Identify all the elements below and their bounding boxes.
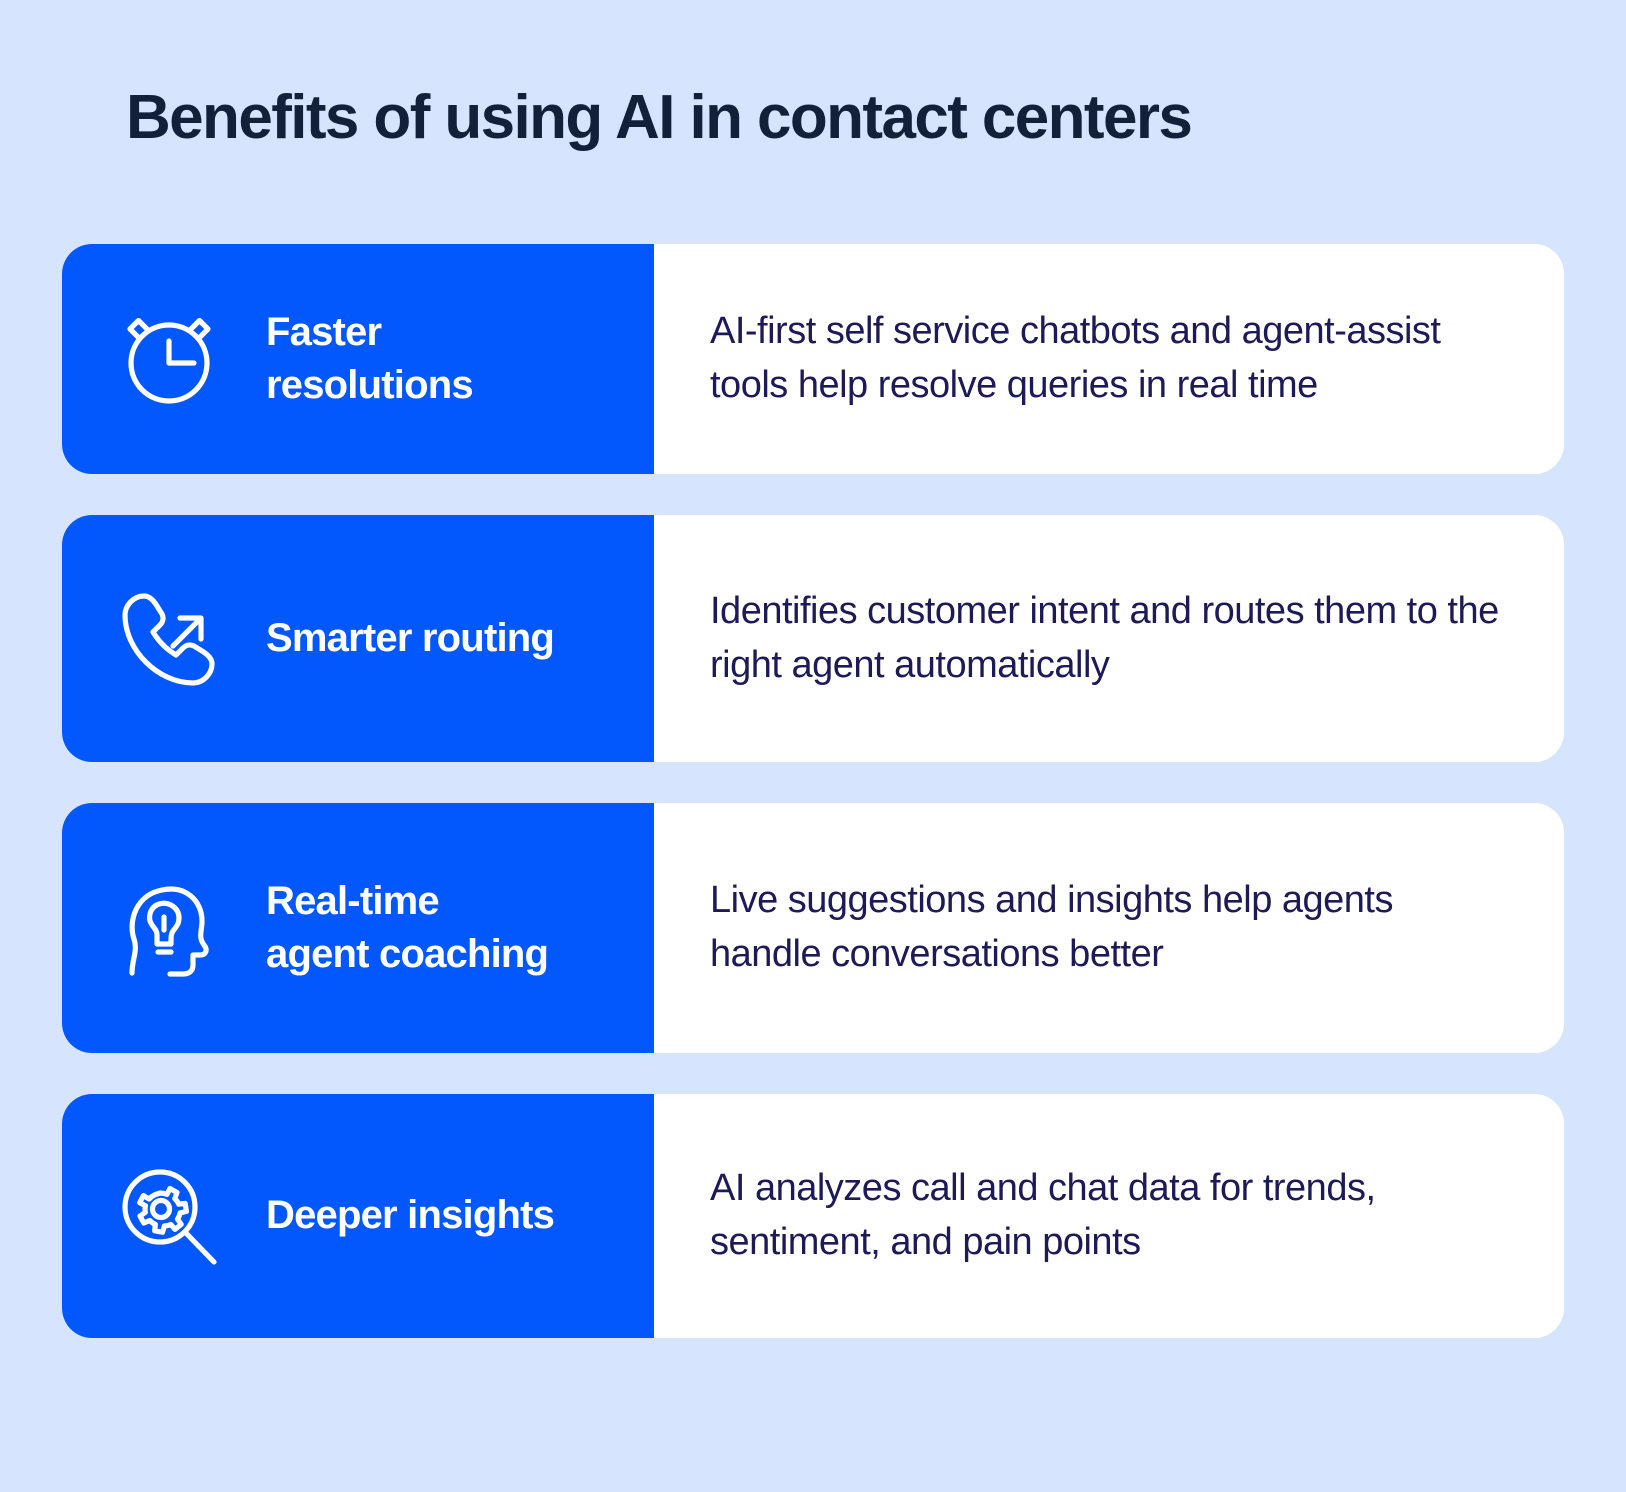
benefit-card-accent-panel: Faster resolutions bbox=[62, 244, 654, 474]
head-lightbulb-idea-icon bbox=[110, 873, 228, 983]
infographic-page: Benefits of using AI in contact centers … bbox=[0, 0, 1626, 1492]
benefit-card-faster-resolutions: Faster resolutions AI-first self service… bbox=[62, 244, 1564, 474]
benefit-card-description-panel: AI-first self service chatbots and agent… bbox=[654, 244, 1564, 474]
benefit-card-heading: Real-time agent coaching bbox=[266, 875, 548, 981]
magnifier-gear-analysis-icon bbox=[110, 1161, 228, 1271]
benefit-card-accent-panel: Deeper insights bbox=[62, 1094, 654, 1338]
benefit-card-description-panel: Identifies customer intent and routes th… bbox=[654, 515, 1564, 762]
benefit-card-heading: Smarter routing bbox=[266, 612, 554, 665]
benefit-card-description: Identifies customer intent and routes th… bbox=[710, 585, 1508, 693]
benefit-card-description: Live suggestions and insights help agent… bbox=[710, 874, 1508, 982]
benefit-card-accent-panel: Real-time agent coaching bbox=[62, 803, 654, 1053]
benefit-card-real-time-agent-coaching: Real-time agent coaching Live suggestion… bbox=[62, 803, 1564, 1053]
benefit-card-description-panel: AI analyzes call and chat data for trend… bbox=[654, 1094, 1564, 1338]
benefit-card-accent-panel: Smarter routing bbox=[62, 515, 654, 762]
benefit-card-list: Faster resolutions AI-first self service… bbox=[62, 244, 1564, 1338]
benefit-card-description-panel: Live suggestions and insights help agent… bbox=[654, 803, 1564, 1053]
benefit-card-description: AI-first self service chatbots and agent… bbox=[710, 305, 1508, 413]
alarm-clock-icon bbox=[110, 305, 228, 413]
phone-outgoing-call-icon bbox=[110, 584, 228, 694]
benefit-card-heading: Deeper insights bbox=[266, 1189, 554, 1242]
benefit-card-description: AI analyzes call and chat data for trend… bbox=[710, 1162, 1508, 1270]
benefit-card-smarter-routing: Smarter routing Identifies customer inte… bbox=[62, 515, 1564, 762]
benefit-card-deeper-insights: Deeper insights AI analyzes call and cha… bbox=[62, 1094, 1564, 1338]
benefit-card-heading: Faster resolutions bbox=[266, 306, 473, 412]
page-title: Benefits of using AI in contact centers bbox=[126, 84, 1191, 152]
